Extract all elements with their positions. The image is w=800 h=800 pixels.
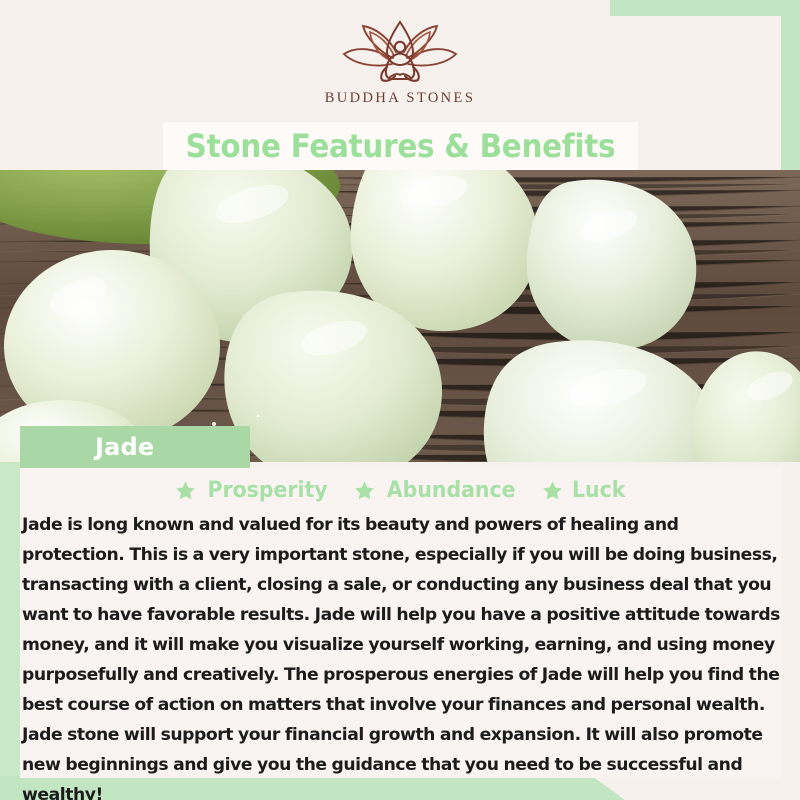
brand-logo: BUDDHA STONES — [0, 18, 800, 120]
stone-name: Jade — [95, 433, 154, 461]
page-title: Stone Features & Benefits — [186, 127, 616, 165]
benefit-label: Luck — [572, 478, 625, 503]
stone-photo-illustration — [0, 170, 800, 462]
benefit-item: Prosperity — [175, 478, 332, 503]
benefit-label: Abundance — [387, 478, 516, 503]
content-panel: Prosperity Abundance Luck Jade is long k… — [20, 468, 782, 778]
infographic-card: BUDDHA STONES — [0, 0, 800, 800]
lotus-meditation-icon — [330, 18, 470, 86]
benefits-row: Prosperity Abundance Luck — [20, 478, 782, 503]
stone-photo — [0, 170, 800, 462]
star-icon — [175, 480, 196, 501]
stone-description: Jade is long known and valued for its be… — [22, 510, 782, 800]
decor-top-right-bar — [610, 0, 800, 16]
stone-name-band: Jade — [20, 426, 250, 468]
brand-wordmark: BUDDHA STONES — [325, 90, 476, 107]
benefit-item: Luck — [542, 478, 627, 503]
header-title-band: Stone Features & Benefits — [163, 122, 638, 170]
benefit-item: Abundance — [354, 478, 520, 503]
benefit-label: Prosperity — [207, 478, 327, 503]
star-icon — [542, 480, 563, 501]
star-icon — [354, 480, 375, 501]
